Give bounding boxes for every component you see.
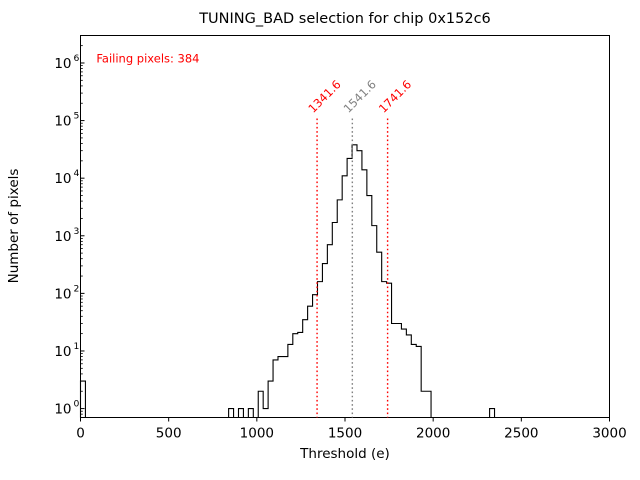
threshold-marker-labels: 1341.61541.61741.6 — [305, 77, 414, 115]
svg-text:10: 10 — [54, 171, 71, 187]
y-axis-title: Number of pixels — [6, 169, 22, 284]
x-axis-major-ticks — [81, 418, 610, 422]
annotation-failing-pixels: Failing pixels: 384 — [96, 51, 199, 65]
svg-text:10: 10 — [54, 229, 71, 245]
histogram-outline — [81, 145, 495, 418]
svg-text:10: 10 — [54, 114, 71, 130]
x-tick-label: 0 — [76, 426, 85, 442]
x-tick-label: 3000 — [592, 426, 626, 442]
threshold-vline-label: 1741.6 — [376, 77, 414, 115]
y-tick-label: 102 — [54, 283, 79, 302]
svg-text:10: 10 — [54, 402, 71, 418]
threshold-vline-label: 1341.6 — [305, 77, 343, 115]
plot-canvas: TUNING_BAD selection for chip 0x152c6 10… — [0, 0, 640, 480]
svg-text:10: 10 — [54, 344, 71, 360]
x-tick-label: 1000 — [240, 426, 274, 442]
svg-text:0: 0 — [74, 399, 80, 410]
x-tick-label: 2500 — [504, 426, 538, 442]
chart-title: TUNING_BAD selection for chip 0x152c6 — [198, 11, 491, 27]
x-tick-label: 500 — [156, 426, 182, 442]
y-tick-label: 106 — [54, 53, 79, 72]
y-tick-label: 103 — [54, 226, 79, 245]
histogram-series — [81, 145, 495, 418]
y-tick-label: 100 — [54, 399, 79, 418]
y-axis-tick-labels: 100101102103104105106 — [54, 53, 79, 418]
svg-text:3: 3 — [74, 226, 80, 237]
svg-text:10: 10 — [54, 286, 71, 302]
axes-frame — [81, 36, 610, 418]
threshold-vline-label: 1541.6 — [341, 77, 379, 115]
x-axis-title: Threshold (e) — [299, 446, 390, 462]
svg-text:2: 2 — [74, 283, 80, 294]
threshold-marker-lines — [317, 119, 388, 418]
y-tick-label: 101 — [54, 341, 79, 360]
svg-text:4: 4 — [74, 168, 80, 179]
svg-text:10: 10 — [54, 56, 71, 72]
y-tick-label: 104 — [54, 168, 79, 187]
x-tick-label: 2000 — [416, 426, 450, 442]
svg-text:6: 6 — [74, 53, 80, 64]
y-tick-label: 105 — [54, 111, 79, 130]
x-tick-label: 1500 — [328, 426, 362, 442]
x-axis-tick-labels: 050010001500200025003000 — [76, 426, 626, 442]
svg-text:5: 5 — [74, 111, 80, 122]
svg-text:1: 1 — [74, 341, 80, 352]
chart-annotations: Failing pixels: 384 — [96, 51, 199, 65]
chart-figure: TUNING_BAD selection for chip 0x152c6 10… — [0, 0, 640, 480]
